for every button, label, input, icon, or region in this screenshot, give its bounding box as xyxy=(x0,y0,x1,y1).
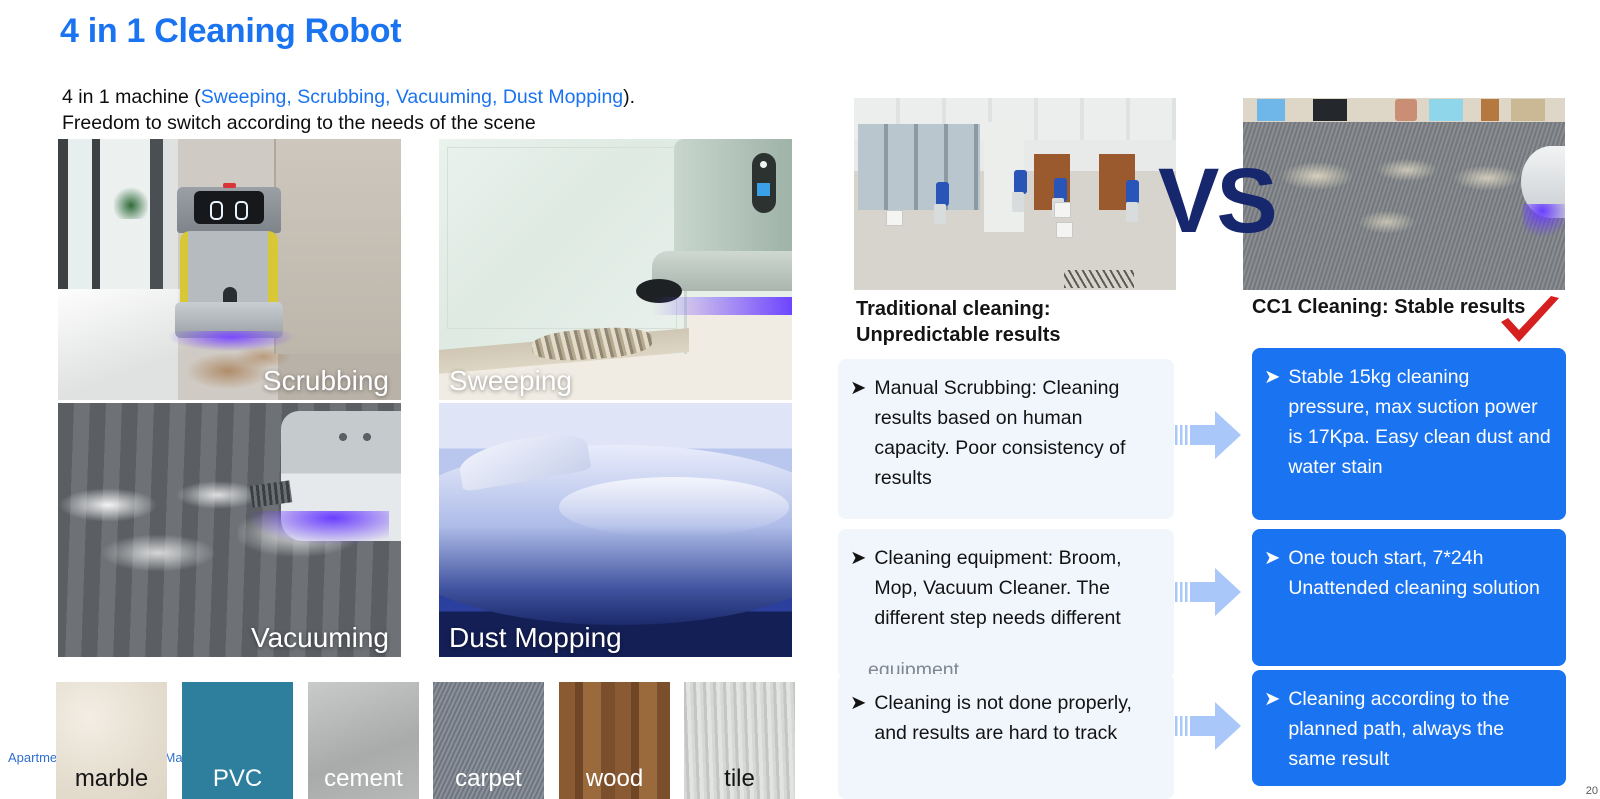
robot-head xyxy=(177,187,281,233)
photo-caption: Sweeping xyxy=(449,365,572,397)
shelf-object xyxy=(1481,99,1499,121)
page-title: 4 in 1 Cleaning Robot xyxy=(60,12,401,51)
solution-text: One touch start, 7*24h Unattended cleani… xyxy=(1288,543,1554,603)
worker-figure xyxy=(1126,180,1139,204)
corridor-wall xyxy=(274,139,401,354)
check-icon xyxy=(1495,296,1565,348)
solution-box: ➤ One touch start, 7*24h Unattended clea… xyxy=(1252,529,1566,666)
problem-box: ➤ Cleaning equipment: Broom, Mop, Vacuum… xyxy=(838,529,1174,679)
surface-swatch-cement: cement xyxy=(308,682,419,799)
bullet-icon: ➤ xyxy=(850,373,866,493)
surface-label: carpet xyxy=(433,765,544,793)
surface-label: marble xyxy=(56,765,167,793)
traditional-cleaning-label: Traditional cleaning: Unpredictable resu… xyxy=(856,296,1186,348)
robot-body xyxy=(674,139,792,259)
surface-swatch-carpet: carpet xyxy=(433,682,544,799)
glass-frame xyxy=(447,147,677,329)
worker-legs xyxy=(1126,202,1138,222)
solution-box: ➤ Cleaning according to the planned path… xyxy=(1252,670,1566,786)
surface-swatch-marble: marble xyxy=(56,682,167,799)
sweeping-photo: Sweeping xyxy=(439,139,792,400)
robot-eye-left xyxy=(210,201,223,220)
traditional-cleaning-photo xyxy=(854,98,1176,290)
photo-caption: Dust Mopping xyxy=(449,622,622,654)
floor-debris xyxy=(1064,270,1134,288)
worker-figure xyxy=(936,182,949,206)
robot-underglow xyxy=(652,297,792,315)
scrubbing-photo: Scrubbing xyxy=(58,139,401,400)
glass-wall xyxy=(439,139,687,354)
arrow-right-icon xyxy=(1175,405,1243,465)
worker-legs xyxy=(1012,192,1024,212)
traditional-label-line1: Traditional cleaning: xyxy=(856,298,1050,320)
subtitle-line2: Freedom to switch according to the needs… xyxy=(62,112,536,134)
plant-decor xyxy=(114,185,148,219)
solution-text: Stable 15kg cleaning pressure, max sucti… xyxy=(1288,362,1554,482)
cleaning-bucket xyxy=(1054,202,1071,218)
cleaning-robot xyxy=(177,187,281,337)
problem-box: ➤ Cleaning is not done properly, and res… xyxy=(838,674,1174,799)
robot-underglow xyxy=(169,331,293,351)
shelf-object xyxy=(1511,99,1545,121)
shelf-object xyxy=(1395,99,1417,121)
arrow-right-icon xyxy=(1175,696,1243,756)
robot-camera-dot xyxy=(760,161,767,168)
robot-underglow xyxy=(1523,204,1565,238)
bullet-icon: ➤ xyxy=(1264,543,1280,603)
surface-highlight xyxy=(559,477,789,537)
vacuuming-photo: Vacuuming xyxy=(58,403,401,657)
carpet-dust xyxy=(1277,156,1537,256)
cleaning-bucket xyxy=(1056,222,1073,238)
surface-swatch-wood: wood xyxy=(559,682,670,799)
subtitle-highlight: Sweeping, Scrubbing, Vacuuming, Dust Mop… xyxy=(201,86,623,108)
vs-badge: VS xyxy=(1158,155,1275,247)
surface-label: PVC xyxy=(182,765,293,793)
surface-label: wood xyxy=(559,765,670,793)
bullet-icon: ➤ xyxy=(1264,684,1280,774)
shelf-object xyxy=(1257,99,1285,121)
robot-screen-icon xyxy=(757,183,770,196)
robot-indicator-light xyxy=(223,183,236,188)
photo-caption: Vacuuming xyxy=(251,622,389,654)
surface-label: tile xyxy=(684,765,795,793)
photo-caption: Scrubbing xyxy=(263,365,389,397)
worker-figure xyxy=(1014,170,1027,194)
shelf-object xyxy=(1429,99,1463,121)
dust-mopping-photo: Dust Mopping xyxy=(439,403,792,657)
bullet-icon: ➤ xyxy=(850,543,866,633)
robot-eye-right xyxy=(235,201,248,220)
robot-body xyxy=(180,231,278,306)
surface-swatch-tile: tile xyxy=(684,682,795,799)
shelf-object xyxy=(1313,99,1347,121)
subtitle-suffix: ). xyxy=(623,86,635,108)
subtitle-prefix: 4 in 1 machine ( xyxy=(62,86,201,108)
problem-text: Cleaning equipment: Broom, Mop, Vacuum C… xyxy=(874,543,1160,633)
robot-sensor-holes xyxy=(337,433,381,442)
traditional-label-line2: Unpredictable results xyxy=(856,324,1061,346)
slide-subtitle: 4 in 1 machine (Sweeping, Scrubbing, Vac… xyxy=(62,84,822,136)
solution-box: ➤ Stable 15kg cleaning pressure, max suc… xyxy=(1252,348,1566,520)
surface-swatch-pvc: PVC xyxy=(182,682,293,799)
cleaning-bucket xyxy=(886,210,903,226)
page-number: 20 xyxy=(1586,785,1598,797)
problem-text: Cleaning is not done properly, and resul… xyxy=(874,688,1160,748)
solution-text: Cleaning according to the planned path, … xyxy=(1288,684,1554,774)
bullet-icon: ➤ xyxy=(850,688,866,748)
robot-face-screen xyxy=(194,191,264,224)
bullet-icon: ➤ xyxy=(1264,362,1280,482)
arrow-right-icon xyxy=(1175,562,1243,622)
worker-legs xyxy=(934,204,946,224)
cc1-cleaning-photo xyxy=(1243,98,1565,290)
problem-box: ➤ Manual Scrubbing: Cleaning results bas… xyxy=(838,359,1174,519)
problem-text: Manual Scrubbing: Cleaning results based… xyxy=(874,373,1160,493)
office-window xyxy=(858,124,980,210)
robot-underglow xyxy=(249,511,389,545)
surface-label: cement xyxy=(308,765,419,793)
